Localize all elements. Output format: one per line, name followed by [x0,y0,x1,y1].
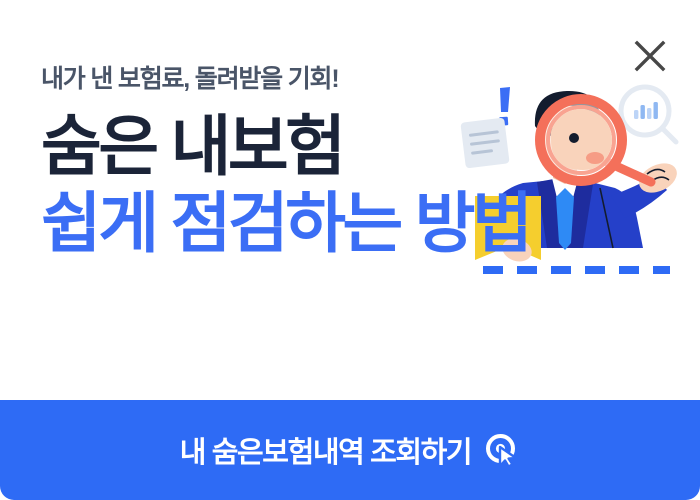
cta-label: 내 숨은보험내역 조회하기 [180,429,471,471]
cta-button[interactable]: 내 숨은보험내역 조회하기 [0,400,700,500]
chart-magnifier-icon [621,87,676,142]
headline-line-1: 숨은 내보험 [41,114,529,179]
promo-banner: 내가 낸 보험료, 돌려받을 기회! 숨은 내보험 쉽게 점검하는 방법 [0,0,700,500]
close-button[interactable] [626,32,674,80]
eyebrow-text: 내가 낸 보험료, 돌려받을 기회! [41,64,529,94]
close-x-icon [633,39,667,73]
headline-line-2: 쉽게 점검하는 방법 [41,191,529,256]
target-click-icon [484,432,520,468]
headline-block: 내가 낸 보험료, 돌려받을 기회! 숨은 내보험 쉽게 점검하는 방법 [41,64,529,255]
